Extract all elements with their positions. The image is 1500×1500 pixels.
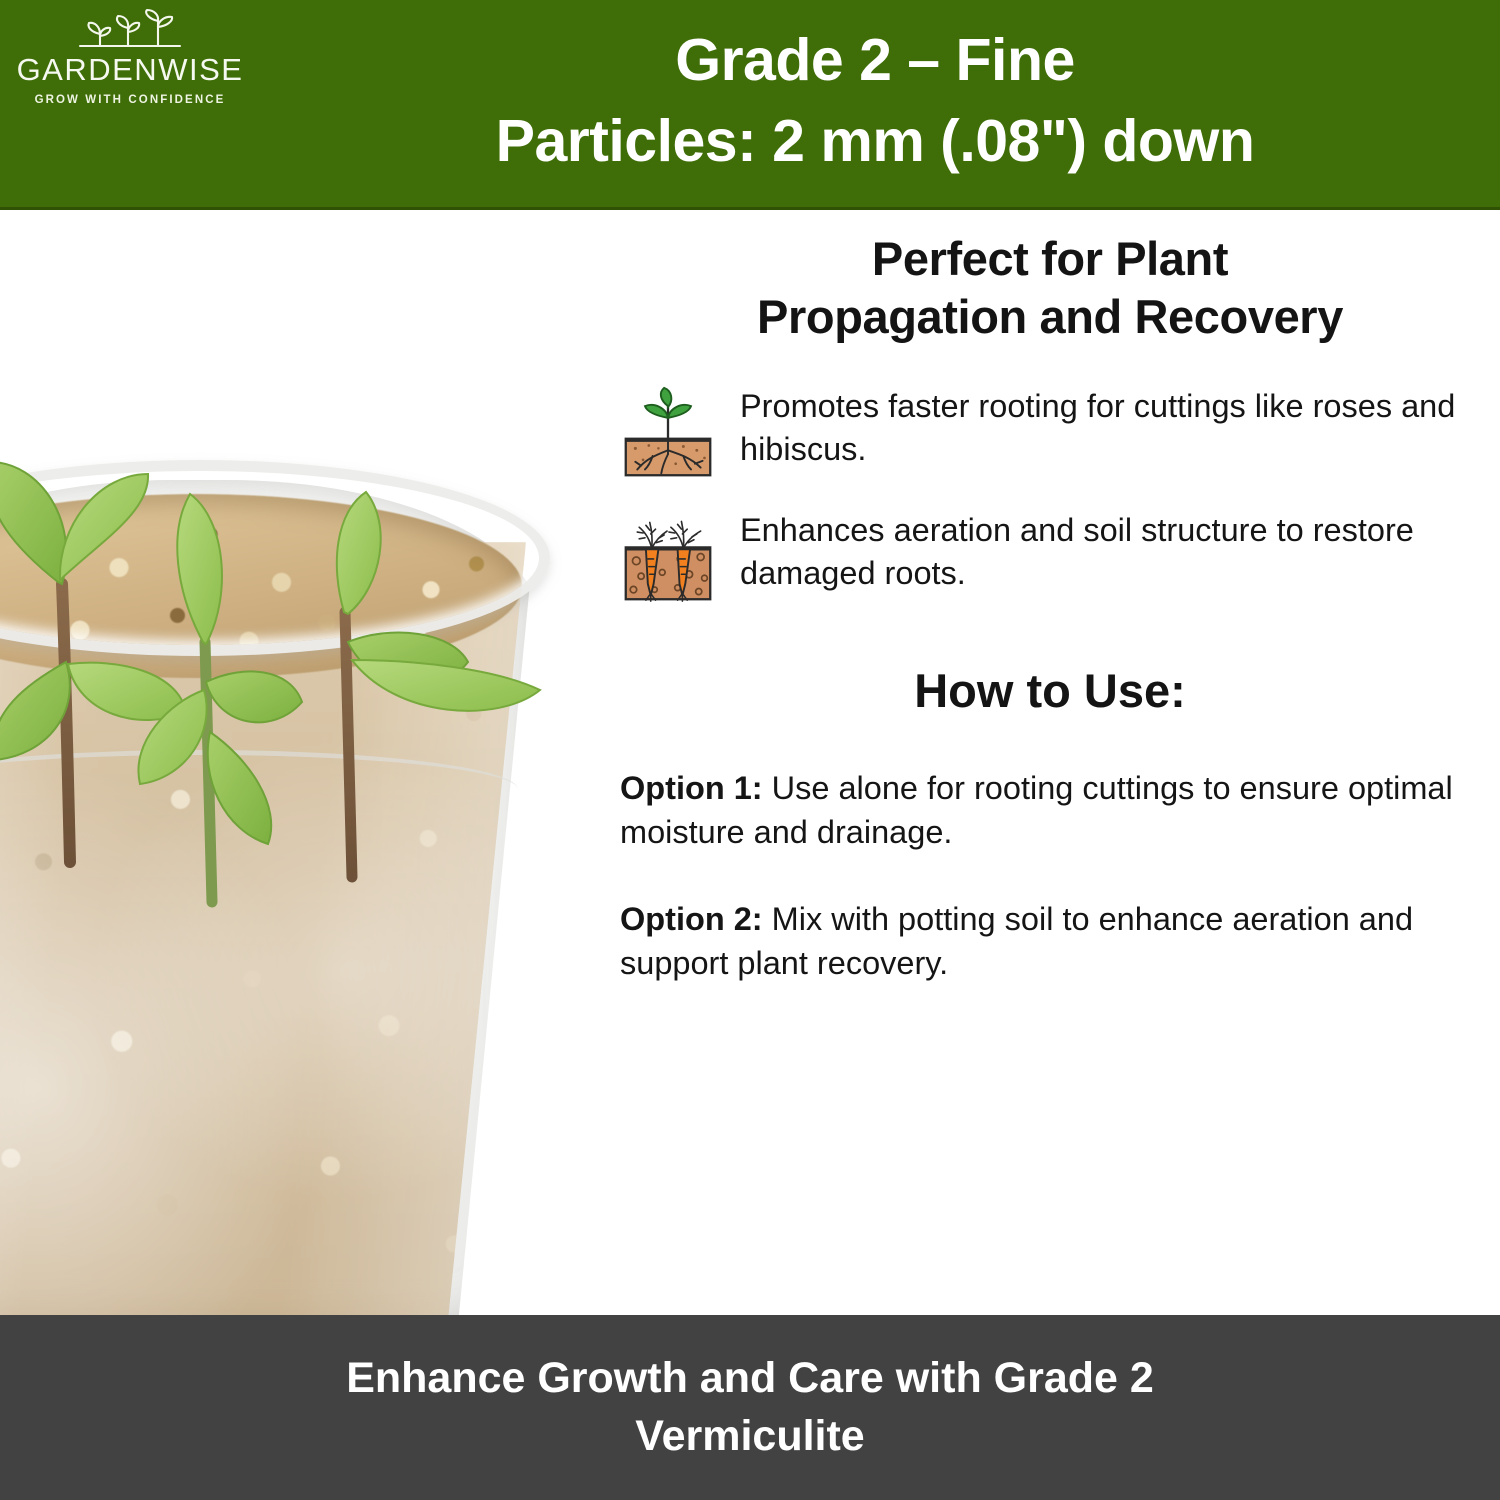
brand-name: GARDENWISE	[10, 54, 250, 87]
option-item: Option 2: Mix with potting soil to enhan…	[620, 897, 1480, 986]
section-title-line-2: Propagation and Recovery	[620, 288, 1480, 346]
brand-tagline: GROW WITH CONFIDENCE	[10, 94, 250, 106]
product-photo	[0, 212, 640, 1315]
header-title-line-2: Particles: 2 mm (.08") down	[260, 101, 1490, 182]
section-title-line-1: Perfect for Plant	[620, 230, 1480, 288]
options-list: Option 1: Use alone for rooting cuttings…	[620, 766, 1480, 986]
photo-inner	[0, 212, 640, 1315]
footer-caption: Enhance Growth and Care with Grade 2 Ver…	[190, 1350, 1310, 1465]
benefit-item: Promotes faster rooting for cuttings lik…	[620, 383, 1480, 481]
benefits-list: Promotes faster rooting for cuttings lik…	[620, 383, 1480, 605]
footer-line-1: Enhance Growth and Care with Grade 2	[190, 1350, 1310, 1408]
section-title: Perfect for Plant Propagation and Recove…	[620, 230, 1480, 347]
infographic-page: GARDENWISE GROW WITH CONFIDENCE Grade 2 …	[0, 0, 1500, 1500]
brand-logo: GARDENWISE GROW WITH CONFIDENCE	[10, 8, 250, 106]
benefit-item: Enhances aeration and soil structure to …	[620, 507, 1480, 605]
howto-title: How to Use:	[620, 663, 1480, 718]
benefit-text: Promotes faster rooting for cuttings lik…	[740, 383, 1480, 471]
benefit-text: Enhances aeration and soil structure to …	[740, 507, 1480, 595]
page-title: Grade 2 – Fine Particles: 2 mm (.08") do…	[260, 20, 1490, 183]
header-bar: GARDENWISE GROW WITH CONFIDENCE Grade 2 …	[0, 0, 1500, 210]
carrots-in-soil-icon	[620, 509, 716, 605]
header-title-line-1: Grade 2 – Fine	[260, 20, 1490, 101]
option-label: Option 2:	[620, 901, 763, 937]
option-item: Option 1: Use alone for rooting cuttings…	[620, 766, 1480, 855]
content-column: Perfect for Plant Propagation and Recove…	[620, 230, 1480, 1028]
footer-line-2: Vermiculite	[190, 1408, 1310, 1466]
option-label: Option 1:	[620, 770, 763, 806]
three-sprouts-icon	[40, 8, 220, 52]
footer-bar: Enhance Growth and Care with Grade 2 Ver…	[0, 1315, 1500, 1500]
seedlings-icon	[0, 212, 640, 1315]
seedling-with-roots-icon	[620, 385, 716, 481]
